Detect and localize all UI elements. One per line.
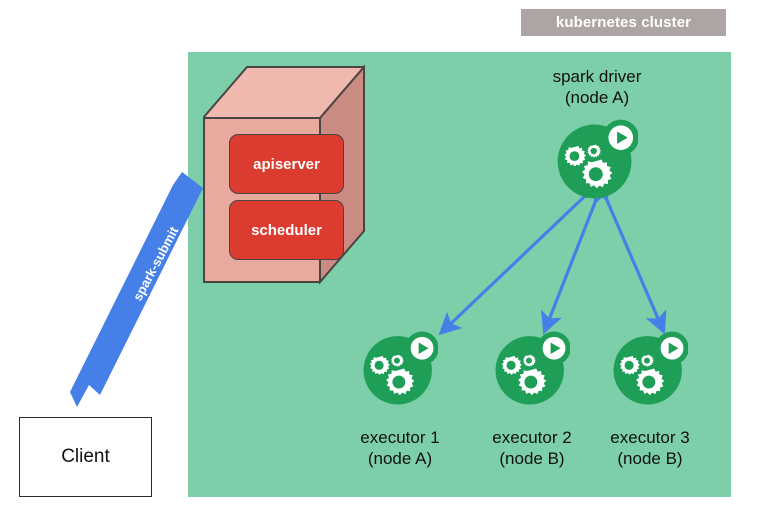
executor-3-node[interactable] [612,330,688,406]
kubernetes-cluster-badge: kubernetes cluster [521,9,726,36]
client-box: Client [19,417,152,497]
executor-1-label-line1: executor 1 [330,427,470,448]
executor-1-label-line2: (node A) [330,448,470,469]
diagram-canvas: kubernetes cluster spark-submit Client a… [0,0,761,516]
spark-driver-label: spark driver (node A) [516,66,678,108]
client-label: Client [61,446,110,468]
apiserver-box: apiserver [229,134,344,194]
play-icon [661,337,684,360]
play-icon [608,125,633,150]
executor-3-label-line1: executor 3 [580,427,720,448]
executor-3-label-line2: (node B) [580,448,720,469]
play-icon [543,337,566,360]
executor-1-node[interactable] [362,330,438,406]
scheduler-label: scheduler [251,222,322,239]
spark-driver-label-line2: (node A) [516,87,678,108]
scheduler-box: scheduler [229,200,344,260]
apiserver-label: apiserver [253,156,320,173]
spark-submit-label: spark-submit [124,214,189,314]
control-plane-cube: apiserver scheduler [203,60,365,285]
kubernetes-cluster-badge-label: kubernetes cluster [556,14,691,31]
executor-1-label: executor 1 (node A) [330,427,470,469]
spark-driver-node[interactable] [556,118,638,200]
play-icon [411,337,434,360]
executor-2-node[interactable] [494,330,570,406]
spark-driver-label-line1: spark driver [516,66,678,87]
executor-3-label: executor 3 (node B) [580,427,720,469]
